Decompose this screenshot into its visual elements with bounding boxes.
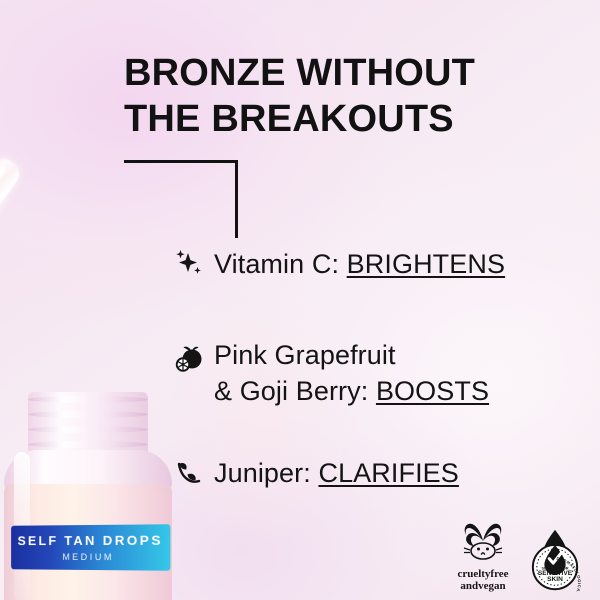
cruelty-free-bunny-icon (456, 519, 510, 567)
benefit-prefix: Vitamin C: (214, 249, 347, 279)
benefit-item-juniper: Juniper: CLARIFIES (172, 455, 459, 491)
product-bottle: SELF TAN DROPS MEDIUM (0, 392, 188, 600)
bottle-thread (28, 426, 148, 433)
juniper-leaf-icon (172, 455, 206, 489)
grapefruit-icon (172, 341, 206, 375)
benefit-text-grapefruit: Pink Grapefruit & Goji Berry: BOOSTS (214, 337, 489, 409)
bottle-thread (28, 396, 148, 403)
benefit-item-vitamin-c: Vitamin C: BRIGHTENS (172, 246, 505, 282)
dropper-tube (0, 153, 24, 294)
bottle-label: SELF TAN DROPS MEDIUM (11, 524, 170, 571)
benefit-emphasis: BRIGHTENS (347, 249, 505, 279)
benefit-prefix: Pink Grapefruit & Goji Berry: (214, 340, 396, 406)
benefit-emphasis: CLARIFIES (318, 458, 458, 488)
sensitive-skin-seal-icon: SUITABLE FOR SENSITIVE SKIN DERMATOLOGIC… (524, 528, 586, 592)
bracket-connector (124, 160, 238, 238)
benefit-emphasis: BOOSTS (376, 376, 489, 406)
benefit-text-juniper: Juniper: CLARIFIES (214, 455, 459, 491)
bottle-label-title: SELF TAN DROPS (18, 533, 163, 548)
bottle-thread (28, 441, 148, 448)
sparkles-icon (172, 246, 206, 280)
cruelty-free-label: crueltyfree andvegan (457, 568, 508, 592)
cruelty-free-badge: crueltyfree andvegan (452, 519, 514, 592)
bracket-horizontal-line (124, 160, 238, 163)
benefit-item-grapefruit: Pink Grapefruit & Goji Berry: BOOSTS (172, 337, 489, 409)
benefit-text-vitamin-c: Vitamin C: BRIGHTENS (214, 246, 505, 282)
benefit-prefix: Juniper: (214, 458, 318, 488)
certification-badges: crueltyfree andvegan SUITABLE FOR SENSIT… (452, 519, 586, 592)
bracket-vertical-line (235, 160, 238, 238)
bottle-thread (28, 411, 148, 418)
headline: BRONZE WITHOUT THE BREAKOUTS (124, 50, 554, 142)
bottle-label-shade: MEDIUM (62, 552, 114, 562)
advertisement-image: SELF TAN DROPS MEDIUM BRONZE WITHOUT THE… (0, 0, 600, 600)
seal-skin-text: SKIN (547, 576, 563, 583)
